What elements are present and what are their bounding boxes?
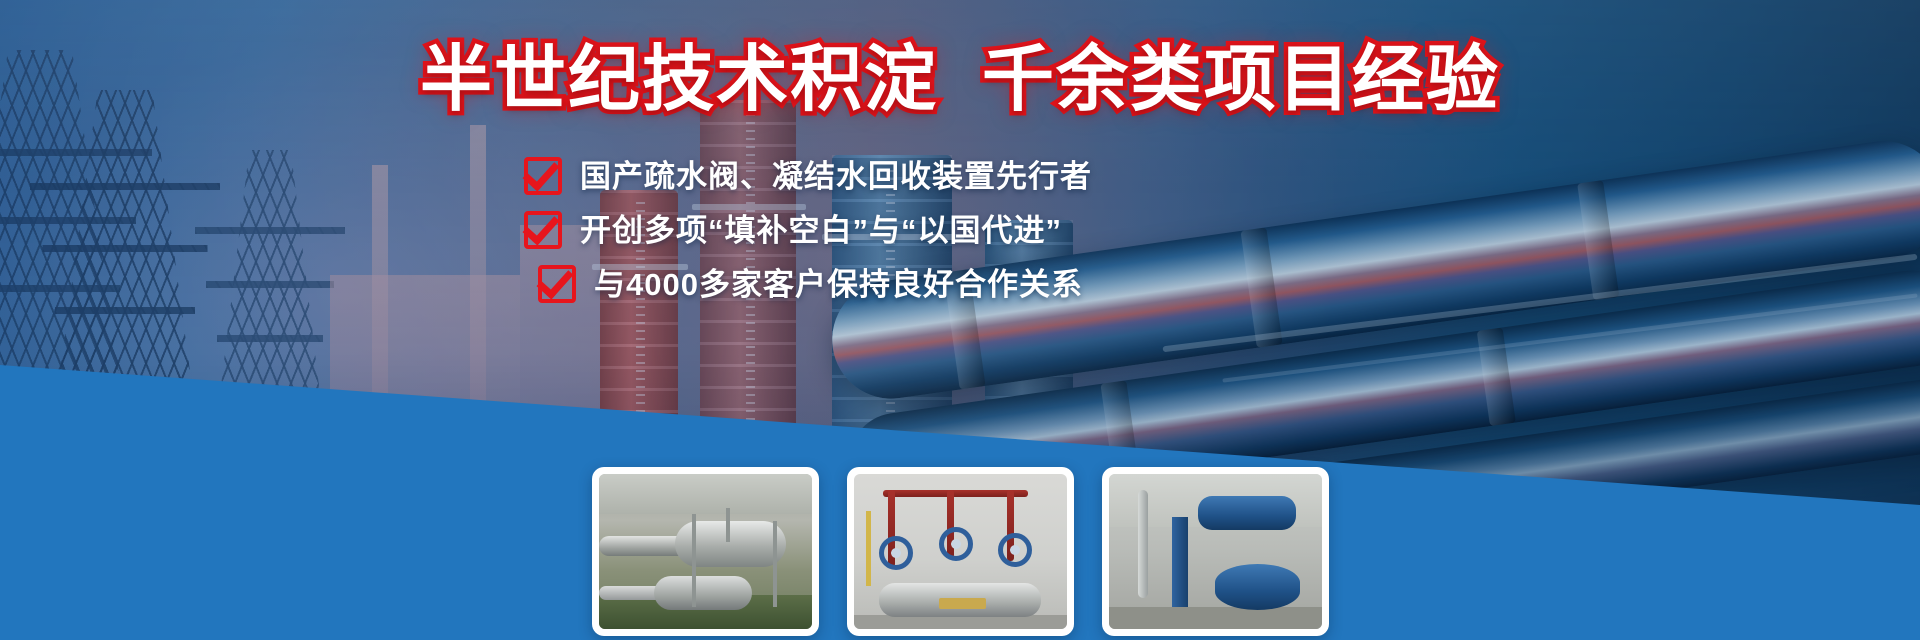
check-box-icon — [538, 265, 576, 303]
product-photo-gallery — [0, 467, 1920, 636]
product-photo-card-2[interactable] — [847, 467, 1074, 636]
feature-bullet-2: 开创多项“填补空白”与“以国代进” — [0, 206, 1920, 254]
product-photo-image-2 — [854, 474, 1067, 629]
feature-bullet-2-label: 开创多项“填补空白”与“以国代进” — [580, 215, 1062, 246]
feature-bullet-1: 国产疏水阀、凝结水回收装置先行者 — [0, 152, 1920, 200]
feature-bullet-list: 国产疏水阀、凝结水回收装置先行者 开创多项“填补空白”与“以国代进” 与4000… — [0, 152, 1920, 314]
product-photo-image-1 — [599, 474, 812, 629]
valve-handwheel-icon — [939, 527, 973, 561]
promo-banner: 半世纪技术积淀 千余类项目经验 国产疏水阀、凝结水回收装置先行者 开创多项“填补… — [0, 0, 1920, 640]
product-photo-image-3 — [1109, 474, 1322, 629]
feature-bullet-3-label: 与4000多家客户保持良好合作关系 — [594, 269, 1083, 300]
feature-bullet-3: 与4000多家客户保持良好合作关系 — [0, 260, 1920, 308]
valve-handwheel-icon — [879, 536, 913, 570]
check-box-icon — [524, 211, 562, 249]
feature-bullet-1-label: 国产疏水阀、凝结水回收装置先行者 — [580, 161, 1092, 192]
product-photo-card-3[interactable] — [1102, 467, 1329, 636]
check-box-icon — [524, 157, 562, 195]
product-photo-card-1[interactable] — [592, 467, 819, 636]
banner-content: 半世纪技术积淀 千余类项目经验 国产疏水阀、凝结水回收装置先行者 开创多项“填补… — [0, 0, 1920, 640]
banner-headline: 半世纪技术积淀 千余类项目经验 — [0, 44, 1920, 116]
valve-handwheel-icon — [998, 533, 1032, 567]
